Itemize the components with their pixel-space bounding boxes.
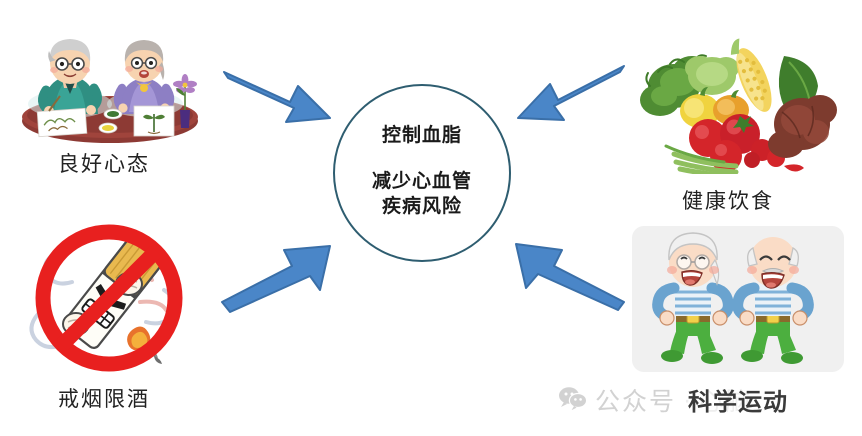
- center-goal-primary: 控制血脂: [382, 126, 462, 147]
- illustration-no-smoking: [14, 218, 204, 376]
- caption-quit-smoking: 戒烟限酒: [58, 383, 150, 413]
- arrow-quit-smoking-to-center: [216, 240, 342, 323]
- arrow-exercise-to-center: [506, 236, 632, 319]
- arrow-good-mood-to-center: [218, 62, 340, 143]
- center-goal-circle: 控制血脂 减少心血管 疾病风险: [333, 84, 511, 262]
- caption-scientific-exercise: 科学运动: [688, 382, 788, 417]
- caption-good-mood: 良好心态: [58, 148, 150, 178]
- infographic-canvas: 良好心态: [0, 0, 862, 436]
- center-goal-secondary-line2: 疾病风险: [372, 194, 472, 220]
- arrow-healthy-diet-to-center: [508, 58, 630, 143]
- center-goal-secondary-line1: 减少心血管: [372, 169, 472, 195]
- illustration-healthy-diet: [634, 28, 844, 174]
- watermark-account-label: 公众号: [595, 382, 676, 418]
- illustration-good-mood: [12, 18, 208, 146]
- illustration-exercise: [632, 226, 844, 372]
- wechat-icon: [558, 386, 588, 415]
- caption-healthy-diet: 健康饮食: [682, 185, 774, 215]
- watermark: 公众号 · 心脑 科学运动: [558, 380, 752, 420]
